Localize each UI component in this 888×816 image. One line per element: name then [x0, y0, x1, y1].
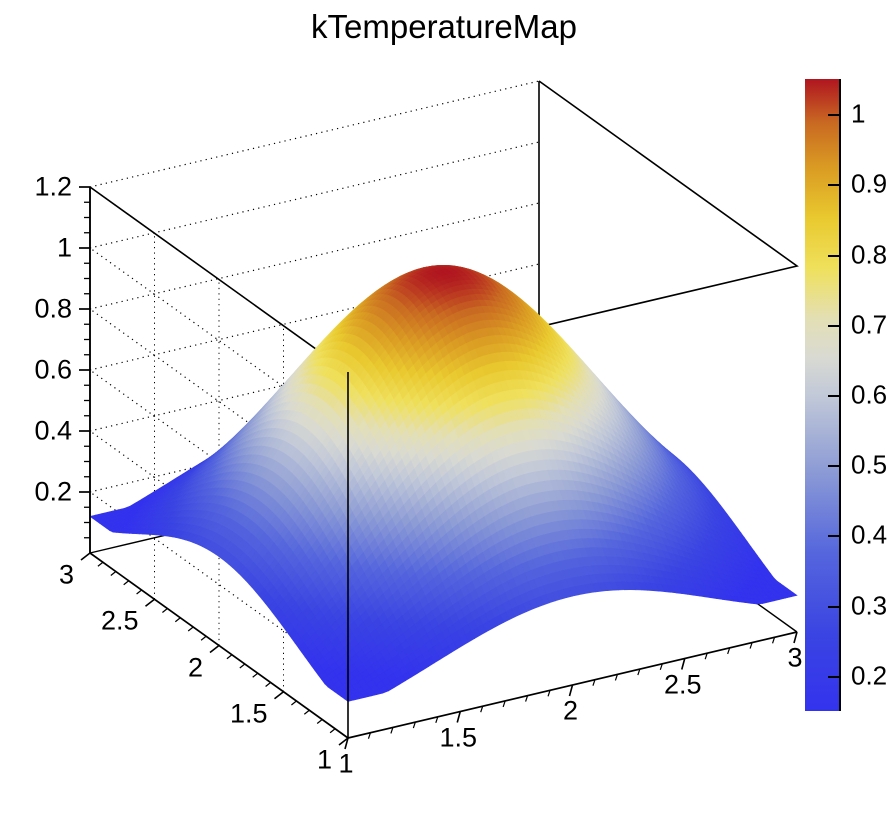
y-tick-label: 2 [188, 652, 203, 683]
color-scale-label: 0.7 [851, 309, 887, 340]
color-scale-tick [828, 606, 839, 608]
x-tick-label: 3 [787, 643, 802, 674]
color-scale-label: 0.9 [851, 169, 887, 200]
y-tick-label: 3 [59, 560, 74, 591]
x-tick-label: 2 [563, 696, 578, 727]
x-tick-label: 1 [338, 749, 353, 780]
color-scale-tick [828, 255, 839, 257]
z-tick-label: 1 [57, 233, 72, 264]
color-scale-tick [828, 465, 839, 467]
y-tick-label: 1.5 [230, 698, 268, 729]
color-scale-tick [828, 114, 839, 116]
color-scale-label: 0.2 [851, 660, 887, 691]
z-tick-label: 0.4 [34, 416, 72, 447]
z-tick-label: 0.6 [34, 355, 72, 386]
x-tick-label: 1.5 [439, 722, 477, 753]
x-tick-label: 2.5 [664, 669, 702, 700]
z-tick-label: 0.2 [34, 477, 72, 508]
color-scale-label: 0.4 [851, 520, 887, 551]
color-scale-tick [828, 535, 839, 537]
color-scale-tick [828, 184, 839, 186]
surface-mesh [90, 265, 797, 701]
plot-canvas: kTemperatureMap 0.20.40.60.811.211.522.5… [0, 0, 888, 816]
z-tick-label: 0.8 [34, 294, 72, 325]
color-scale-tick [828, 325, 839, 327]
y-tick-label: 2.5 [101, 606, 139, 637]
z-tick-label: 1.2 [34, 172, 72, 203]
color-scale-label: 0.3 [851, 590, 887, 621]
color-scale-tick [828, 676, 839, 678]
surface-plot-3d [0, 0, 888, 816]
color-scale-tick [828, 395, 839, 397]
color-scale-label: 0.5 [851, 450, 887, 481]
color-scale-label: 1 [851, 99, 865, 130]
color-scale-label: 0.6 [851, 380, 887, 411]
color-scale-label: 0.8 [851, 239, 887, 270]
y-tick-label: 1 [317, 745, 332, 776]
